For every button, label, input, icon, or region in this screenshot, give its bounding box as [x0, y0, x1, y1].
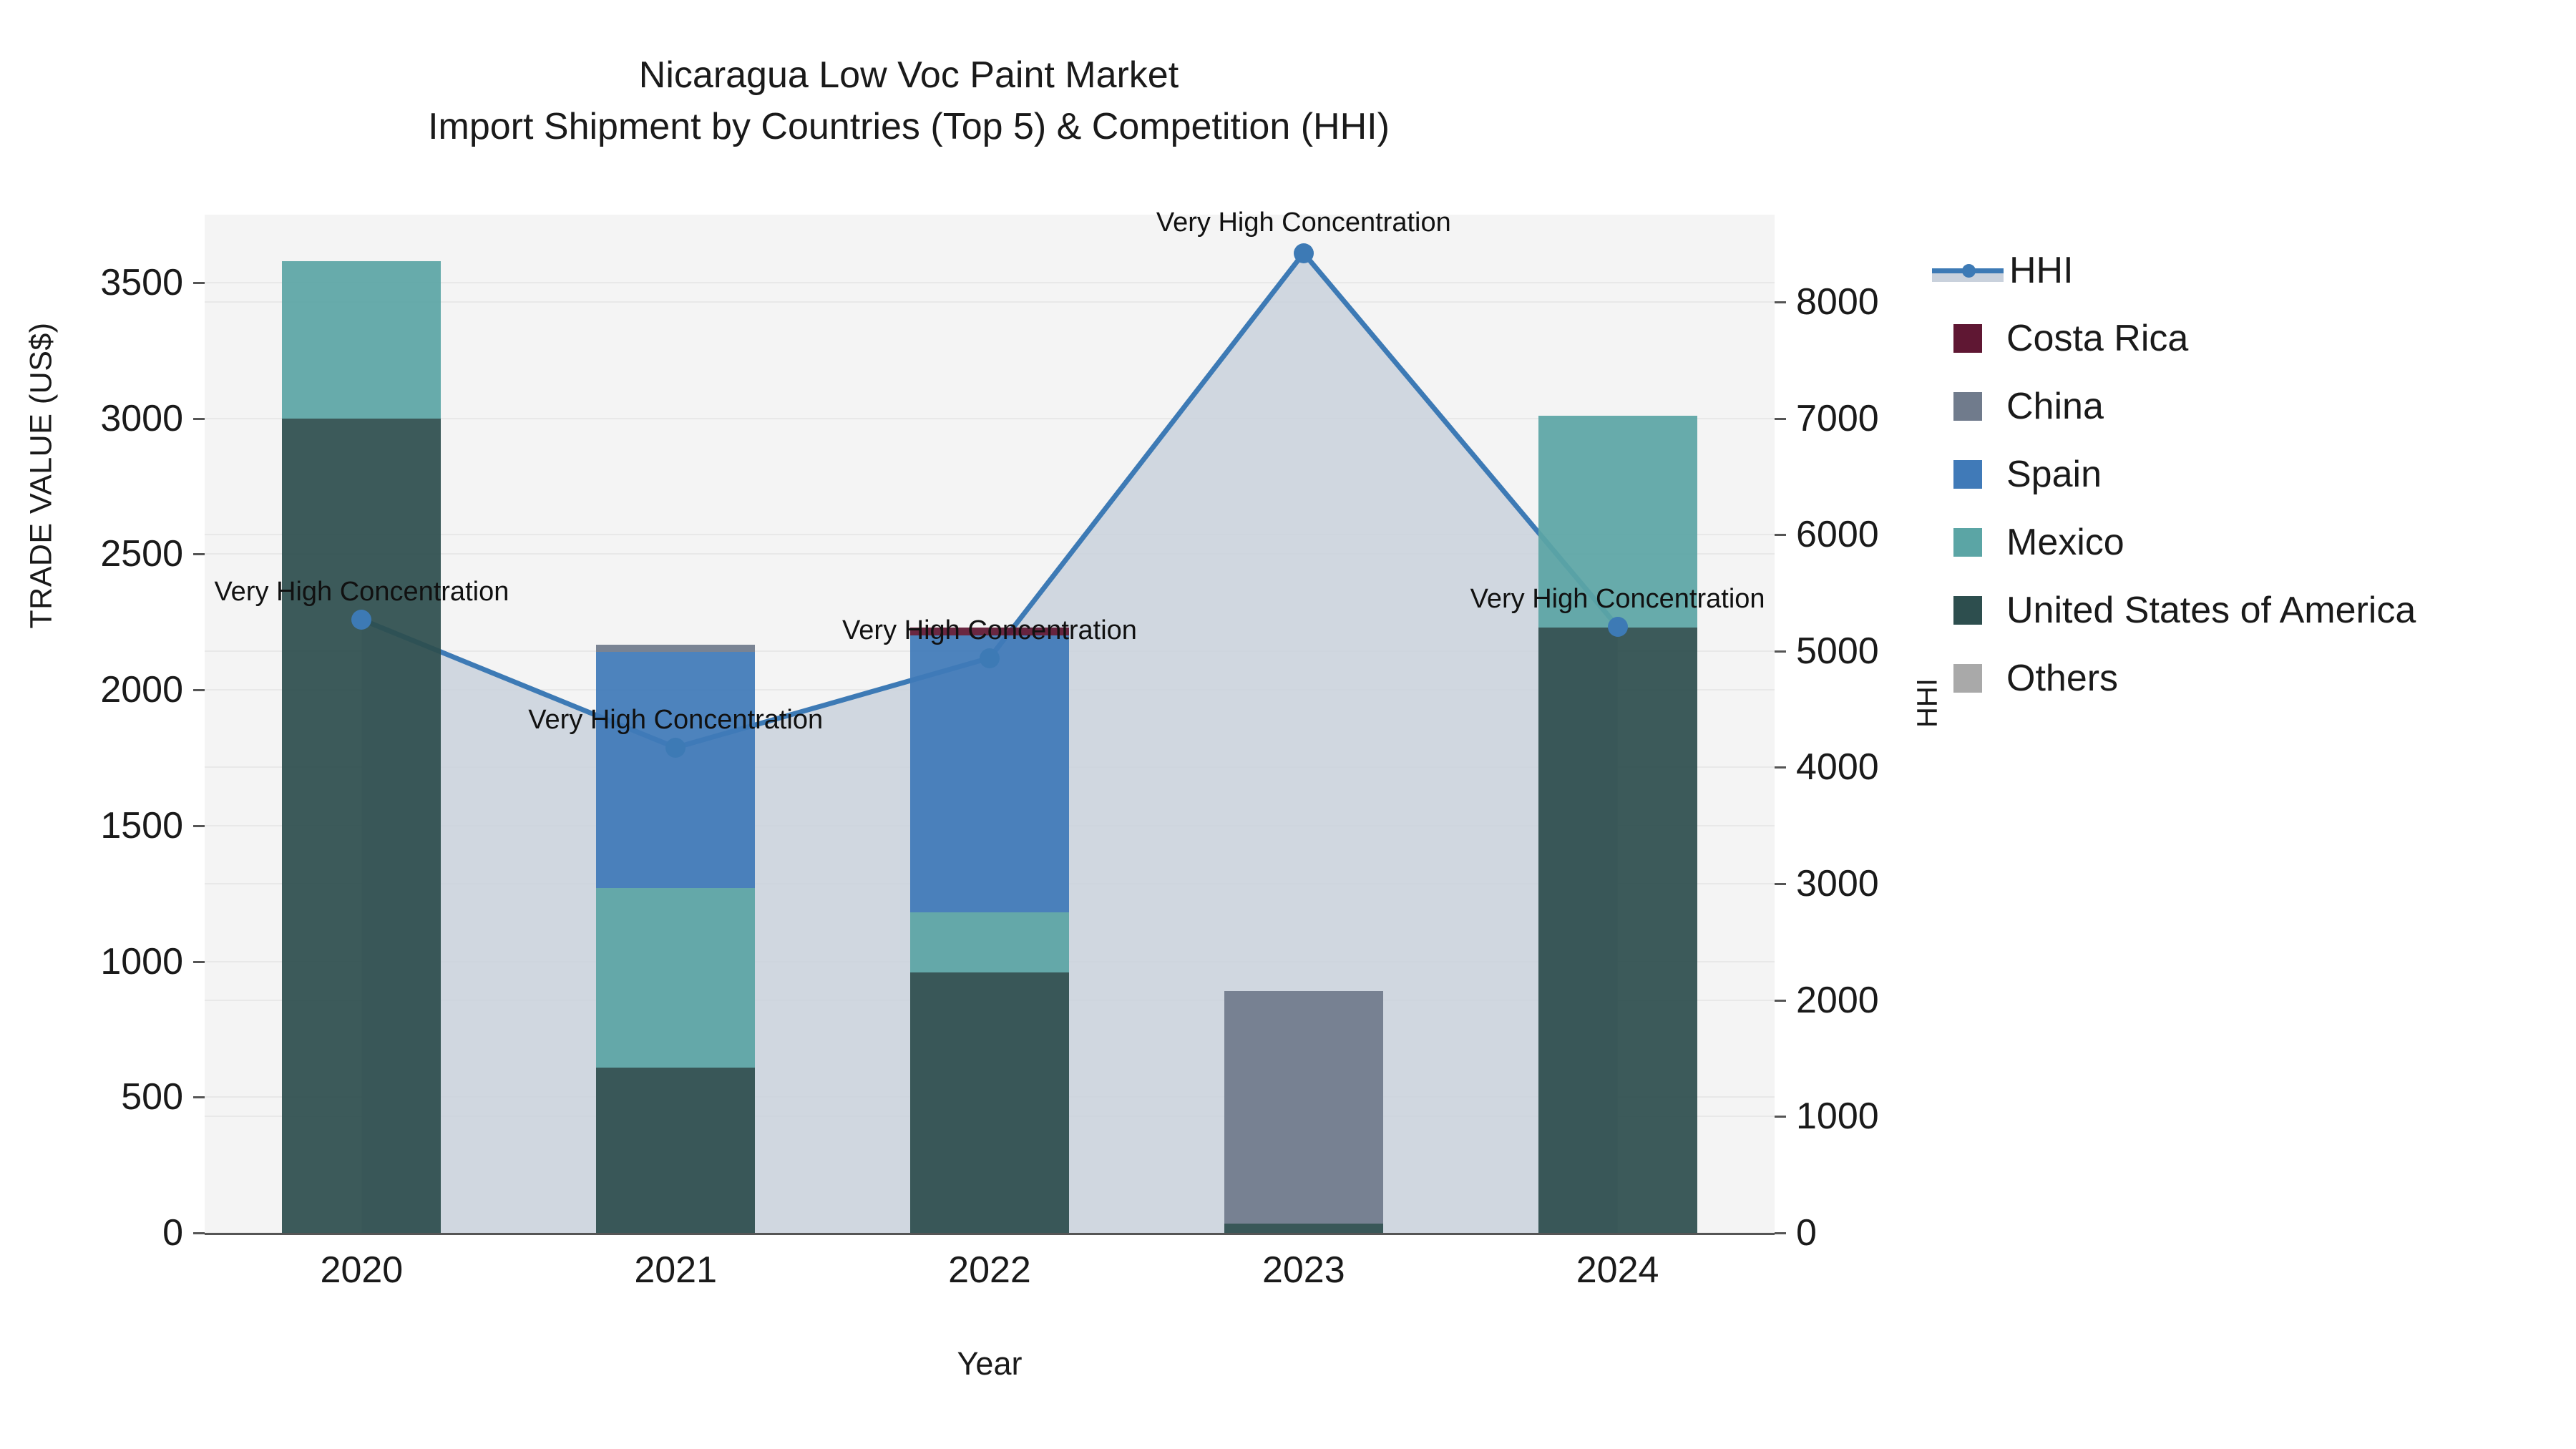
- x-axis-tick-label: 2021: [634, 1249, 717, 1292]
- x-axis-tick-label: 2020: [321, 1249, 404, 1292]
- y-axis-left-tick-mark: [193, 689, 205, 691]
- bar-segment[interactable]: [910, 912, 1069, 972]
- legend-line-swatch: [1932, 256, 2004, 285]
- y-axis-left-tick-mark: [193, 553, 205, 555]
- concentration-annotation: Very High Concentration: [1470, 584, 1765, 615]
- y-axis-right-tick-mark: [1775, 883, 1786, 885]
- legend-item-label: United States of America: [2006, 589, 2416, 632]
- legend-color-swatch: [1953, 392, 1982, 421]
- bar-segment[interactable]: [1538, 628, 1697, 1233]
- y-axis-right-tick-label: 8000: [1796, 280, 1879, 323]
- legend-item[interactable]: HHI: [1932, 236, 2562, 304]
- concentration-annotation: Very High Concentration: [842, 615, 1137, 646]
- legend-item-label: Spain: [2006, 453, 2102, 496]
- y-axis-right-tick-label: 5000: [1796, 630, 1879, 673]
- x-axis-tick-label: 2023: [1262, 1249, 1345, 1292]
- y-axis-right-tick-mark: [1775, 1116, 1786, 1118]
- hhi-marker[interactable]: [665, 738, 686, 758]
- y-axis-right-tick-label: 7000: [1796, 397, 1879, 440]
- x-axis-label: Year: [205, 1345, 1775, 1382]
- bar-segment[interactable]: [282, 261, 441, 419]
- y-axis-right-tick-label: 3000: [1796, 862, 1879, 905]
- legend-item[interactable]: Others: [1932, 644, 2562, 712]
- y-axis-left-tick-label: 2000: [100, 668, 183, 711]
- bar-segment[interactable]: [910, 635, 1069, 912]
- legend-color-swatch: [1953, 596, 1982, 625]
- y-axis-right-tick-mark: [1775, 534, 1786, 536]
- legend-item-label: Costa Rica: [2006, 317, 2188, 360]
- y-axis-left-tick-mark: [193, 282, 205, 284]
- y-axis-right-tick-label: 2000: [1796, 979, 1879, 1022]
- y-axis-left-tick-label: 3000: [100, 397, 183, 440]
- y-axis-right-tick-mark: [1775, 650, 1786, 653]
- legend-item-label: HHI: [2009, 249, 2074, 292]
- legend: HHICosta RicaChinaSpainMexicoUnited Stat…: [1932, 236, 2562, 712]
- x-axis-tick-label: 2024: [1576, 1249, 1659, 1292]
- legend-item[interactable]: Spain: [1932, 440, 2562, 508]
- legend-color-swatch: [1953, 324, 1982, 353]
- legend-item[interactable]: China: [1932, 372, 2562, 440]
- y-axis-right-tick-mark: [1775, 1232, 1786, 1234]
- x-axis-line: [205, 1233, 1775, 1235]
- concentration-annotation: Very High Concentration: [1156, 208, 1451, 238]
- y-axis-left-tick-mark: [193, 825, 205, 827]
- y-axis-right-tick-mark: [1775, 766, 1786, 769]
- y-axis-left-tick-mark: [193, 1232, 205, 1234]
- y-axis-left-tick-label: 1000: [100, 940, 183, 983]
- legend-color-swatch: [1953, 528, 1982, 557]
- y-axis-left-label: TRADE VALUE (US$): [24, 154, 59, 798]
- y-axis-right-tick-mark: [1775, 301, 1786, 303]
- y-axis-right-tick-mark: [1775, 418, 1786, 420]
- y-axis-left-tick-label: 1500: [100, 804, 183, 847]
- bar-segment[interactable]: [910, 972, 1069, 1233]
- y-axis-left-tick-mark: [193, 961, 205, 963]
- bar-segment[interactable]: [1224, 1224, 1383, 1233]
- bar-segment[interactable]: [596, 1068, 755, 1233]
- legend-color-swatch: [1953, 460, 1982, 489]
- hhi-marker[interactable]: [1294, 243, 1314, 263]
- x-axis-tick-label: 2022: [948, 1249, 1031, 1292]
- y-axis-right-tick-label: 6000: [1796, 513, 1879, 556]
- y-axis-left-tick-mark: [193, 1096, 205, 1098]
- y-axis-right-tick-mark: [1775, 1000, 1786, 1002]
- bar-segment[interactable]: [596, 888, 755, 1067]
- y-axis-right-tick-label: 0: [1796, 1211, 1817, 1254]
- hhi-marker[interactable]: [980, 648, 1000, 668]
- legend-item-label: Others: [2006, 657, 2118, 700]
- legend-color-swatch: [1953, 664, 1982, 693]
- bar-segment[interactable]: [596, 645, 755, 651]
- concentration-annotation: Very High Concentration: [528, 705, 823, 736]
- hhi-marker[interactable]: [1608, 617, 1628, 637]
- legend-item[interactable]: Costa Rica: [1932, 304, 2562, 372]
- concentration-annotation: Very High Concentration: [214, 577, 509, 608]
- legend-item-label: Mexico: [2006, 521, 2124, 564]
- y-axis-left-tick-label: 0: [162, 1211, 183, 1254]
- y-axis-right-tick-label: 1000: [1796, 1095, 1879, 1138]
- legend-item-label: China: [2006, 385, 2104, 428]
- legend-item[interactable]: United States of America: [1932, 576, 2562, 644]
- y-axis-left-tick-label: 3500: [100, 261, 183, 304]
- bar-segment[interactable]: [282, 419, 441, 1233]
- y-axis-left-tick-label: 2500: [100, 532, 183, 575]
- y-axis-left-tick-label: 500: [121, 1075, 183, 1118]
- legend-item[interactable]: Mexico: [1932, 508, 2562, 576]
- bar-segment[interactable]: [596, 652, 755, 888]
- bar-segment[interactable]: [1224, 991, 1383, 1223]
- y-axis-right-tick-label: 4000: [1796, 746, 1879, 789]
- y-axis-left-tick-mark: [193, 418, 205, 420]
- chart-root: Nicaragua Low Voc Paint Market Import Sh…: [0, 0, 2576, 1449]
